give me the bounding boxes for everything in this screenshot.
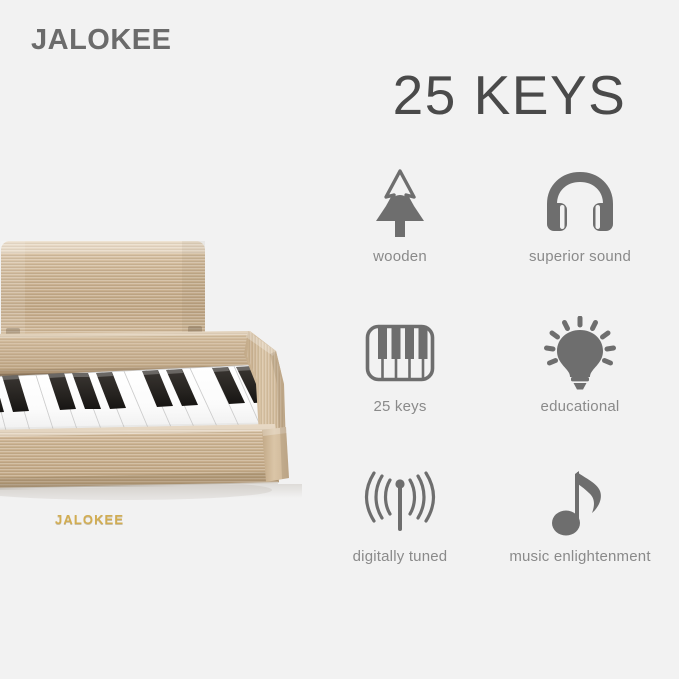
piano-keys-icon (364, 314, 436, 392)
lightbulb-icon (542, 314, 618, 392)
piano-front-rail (0, 422, 292, 492)
headphones-icon (543, 164, 617, 242)
product-logo-engraving: JALOKEE (55, 513, 124, 526)
feature-item-digitally-tuned: digitally tuned (310, 460, 490, 610)
feature-item-educational: educational (490, 310, 670, 460)
pine-tree-icon (368, 164, 432, 242)
feature-label: music enlightenment (509, 548, 650, 565)
feature-label: wooden (373, 248, 427, 265)
piano-music-rest (0, 232, 222, 342)
feature-label: digitally tuned (353, 548, 448, 565)
piano-right-leg (262, 427, 289, 482)
product-image-piano: JALOKEE (0, 232, 322, 500)
music-note-icon (550, 464, 610, 542)
poster-canvas: JALOKEE 25 KEYS (0, 0, 679, 679)
feature-item-wooden: wooden (310, 160, 490, 310)
feature-item-25-keys: 25 keys (310, 310, 490, 460)
feature-item-music-enlightenment: music enlightenment (490, 460, 670, 610)
feature-item-superior-sound: superior sound (490, 160, 670, 310)
feature-grid: wooden superior sound (310, 160, 670, 610)
feature-label: superior sound (529, 248, 631, 265)
feature-label: 25 keys (373, 398, 426, 415)
brand-logo: JALOKEE (31, 26, 171, 55)
antenna-signal-icon (362, 464, 438, 542)
feature-label: educational (541, 398, 620, 415)
page-title: 25 KEYS (340, 68, 679, 123)
